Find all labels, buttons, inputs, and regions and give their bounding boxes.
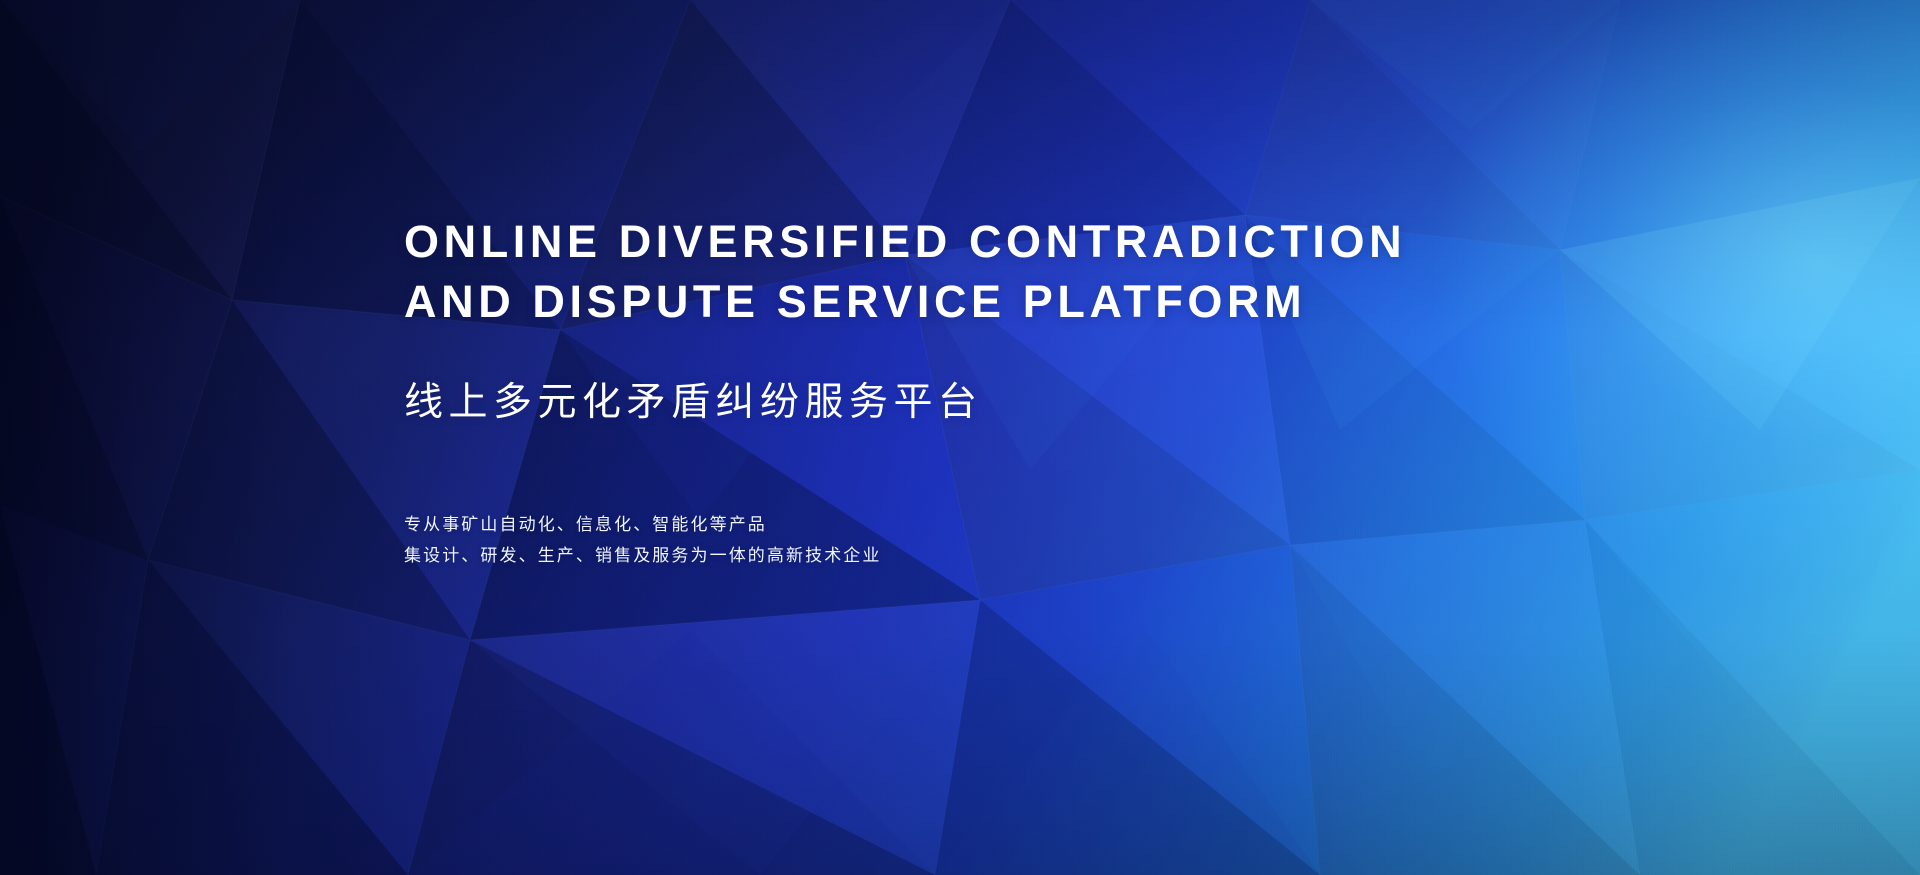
- banner-title-english-line-2: AND DISPUTE SERVICE PLATFORM: [404, 272, 1504, 332]
- banner-description: 专从事矿山自动化、信息化、智能化等产品 集设计、研发、生产、销售及服务为一体的高…: [404, 509, 1504, 571]
- banner-title-english: ONLINE DIVERSIFIED CONTRADICTION AND DIS…: [404, 212, 1504, 332]
- hero-banner: ONLINE DIVERSIFIED CONTRADICTION AND DIS…: [0, 0, 1920, 875]
- banner-description-line-1: 专从事矿山自动化、信息化、智能化等产品: [404, 509, 1504, 540]
- banner-title-english-line-1: ONLINE DIVERSIFIED CONTRADICTION: [404, 212, 1504, 272]
- banner-description-line-2: 集设计、研发、生产、销售及服务为一体的高新技术企业: [404, 540, 1504, 571]
- banner-title-chinese: 线上多元化矛盾纠纷服务平台: [404, 377, 1504, 429]
- banner-content: ONLINE DIVERSIFIED CONTRADICTION AND DIS…: [404, 0, 1504, 875]
